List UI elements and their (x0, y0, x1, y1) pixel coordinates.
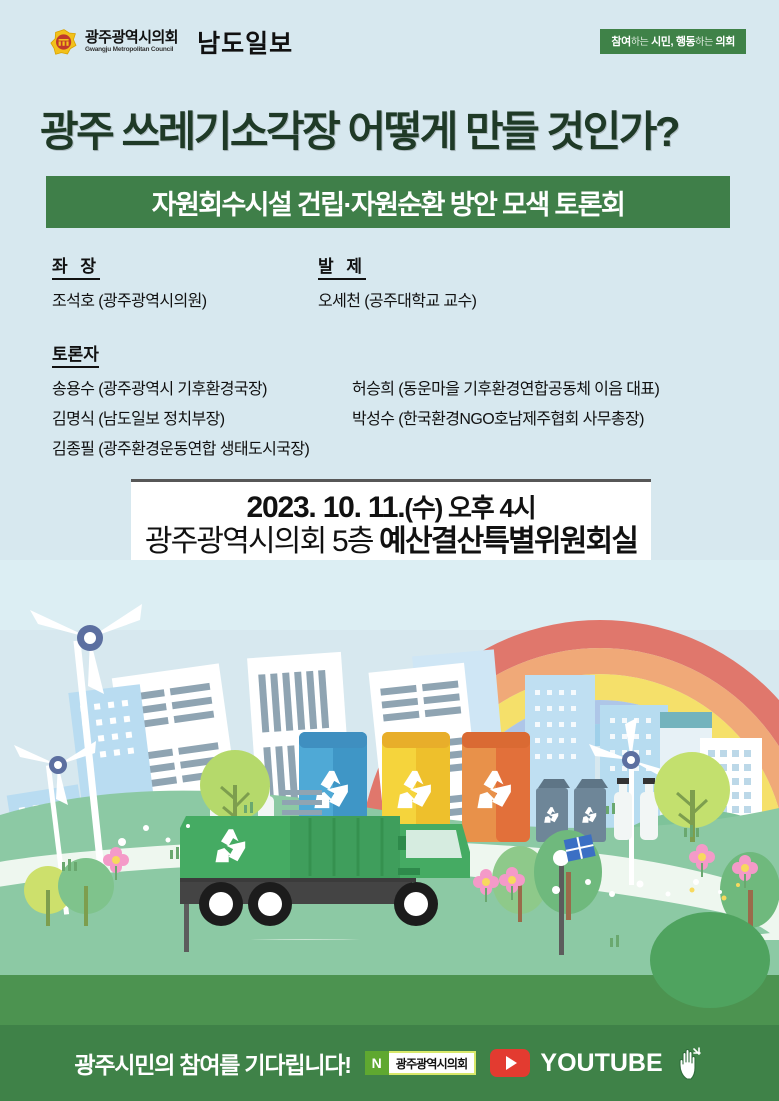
illustration-canvas (0, 560, 779, 1025)
naver-blog-label: 광주광역시의회 (389, 1051, 477, 1075)
paper-name: 남도일보 (197, 24, 293, 60)
event-date-weekday: (수) (404, 493, 442, 523)
event-date-time: 오후 4시 (442, 493, 535, 523)
council-name: 광주광역시의회 Gwangju Metropolitan Council (85, 30, 178, 54)
slogan-p1-thin: 하는 (631, 37, 649, 48)
slogan-badge: 참여하는 시민, 행동하는 의회 (600, 29, 746, 54)
naver-blog-badge[interactable]: N 광주광역시의회 (365, 1051, 477, 1075)
page-title: 광주 쓰레기소각장 어떻게 만들 것인가? (40, 98, 678, 159)
poster-footer: 광주시민의 참여를 기다립니다! N 광주광역시의회 YOUTUBE (0, 1025, 779, 1101)
chair-name: 조석호 (광주광역시의원) (52, 287, 207, 311)
youtube-label: YOUTUBE (540, 1049, 662, 1078)
slogan-p1: 참여 (611, 36, 630, 48)
youtube-play-icon (490, 1049, 530, 1077)
panel-members-grid: 송용수 (광주광역시 기후환경국장) 허승희 (동운마을 기후환경연합공동체 이… (52, 375, 772, 459)
poster-root: 광주광역시의회 Gwangju Metropolitan Council 남도일… (0, 0, 779, 1101)
presenter-name: 오세천 (공주대학교 교수) (318, 287, 476, 311)
council-name-ko: 광주광역시의회 (85, 30, 178, 45)
presenter-block: 발 제 오세천 (공주대학교 교수) (318, 252, 476, 311)
subtitle-bar: 자원회수시설 건립·자원순환 방안 모색 토론회 (46, 176, 730, 228)
event-venue-room: 예산결산특별위원회실 (379, 525, 637, 558)
panel-member: 허승희 (동운마을 기후환경연합공동체 이음 대표) (352, 375, 772, 399)
panel-block: 토론자 송용수 (광주광역시 기후환경국장) 허승희 (동운마을 기후환경연합공… (52, 340, 772, 459)
youtube-badge[interactable]: YOUTUBE (490, 1049, 662, 1078)
pointing-hand-cursor-icon (677, 1046, 705, 1080)
chair-role-label: 좌 장 (52, 252, 100, 280)
footer-invite-text: 광주시민의 참여를 기다립니다! (74, 1046, 350, 1080)
panel-member: 박성수 (한국환경NGO호남제주협회 사무총장) (352, 405, 772, 429)
panel-spacer (352, 435, 772, 459)
event-venue: 광주광역시의회 5층 예산결산특별위원회실 (145, 525, 637, 560)
recycling-bin-orange (462, 732, 530, 842)
council-name-en: Gwangju Metropolitan Council (85, 47, 178, 54)
event-details-box: 2023. 10. 11.(수) 오후 4시 광주광역시의회 5층 예산결산특별… (131, 479, 651, 571)
poster-header: 광주광역시의회 Gwangju Metropolitan Council 남도일… (0, 22, 779, 66)
panel-member: 김명식 (남도일보 정치부장) (52, 405, 352, 429)
panel-role-label: 토론자 (52, 340, 99, 368)
brand-lockup: 광주광역시의회 Gwangju Metropolitan Council 남도일… (50, 24, 293, 60)
slogan-p3: 의회 (713, 36, 735, 48)
slogan-p2-thin: 하는 (695, 37, 713, 48)
slogan-p2: 시민, 행동 (648, 36, 695, 48)
city-illustration (0, 560, 779, 1025)
subtitle-text: 자원회수시설 건립·자원순환 방안 모색 토론회 (152, 183, 625, 222)
panel-member: 김종필 (광주환경운동연합 생태도시국장) (52, 435, 352, 459)
gwangju-council-emblem-icon (50, 28, 78, 56)
presenter-role-label: 발 제 (318, 252, 366, 280)
panel-member: 송용수 (광주광역시 기후환경국장) (52, 375, 352, 399)
event-venue-prefix: 광주광역시의회 5층 (145, 525, 379, 558)
naver-n-icon: N (365, 1051, 389, 1075)
event-date-ymd: 2023. 10. 11. (246, 491, 404, 524)
chair-block: 좌 장 조석호 (광주광역시의원) (52, 252, 207, 311)
event-date: 2023. 10. 11.(수) 오후 4시 (246, 491, 535, 526)
